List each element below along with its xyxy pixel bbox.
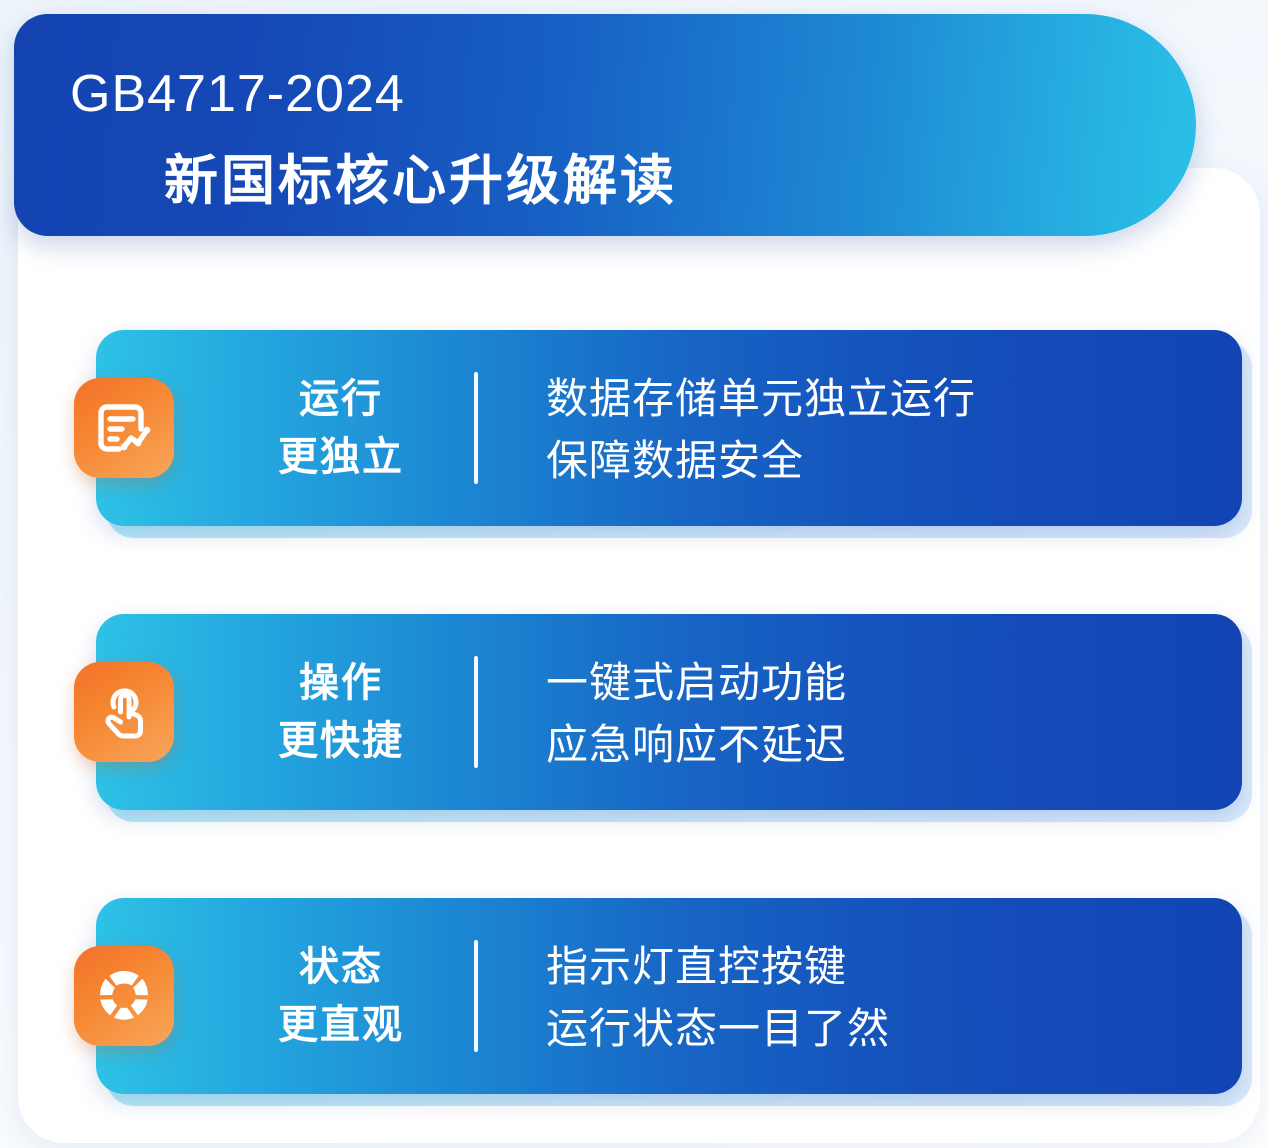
- infographic-page: GB4717-2024 新国标核心升级解读 运行 更独立: [0, 0, 1268, 1148]
- feature-label-line1: 运行: [226, 370, 456, 428]
- feature-desc-line1: 指示灯直控按键: [546, 936, 890, 998]
- feature-desc-line2: 运行状态一目了然: [546, 998, 890, 1060]
- feature-card-2[interactable]: 操作 更快捷 一键式启动功能 应急响应不延迟: [96, 614, 1242, 810]
- feature-row-3: 状态 更直观 指示灯直控按键 运行状态一目了然: [80, 898, 1252, 1106]
- feature-label-line1: 操作: [226, 654, 456, 712]
- feature-label-line2: 更快捷: [226, 712, 456, 770]
- feature-label-3: 状态 更直观: [226, 938, 456, 1054]
- document-chart-icon: [74, 378, 174, 478]
- tap-hand-icon: [74, 662, 174, 762]
- vertical-divider: [474, 656, 478, 768]
- feature-desc-line2: 保障数据安全: [546, 430, 976, 492]
- feature-card-3[interactable]: 状态 更直观 指示灯直控按键 运行状态一目了然: [96, 898, 1242, 1094]
- standard-code-title: GB4717-2024: [70, 64, 405, 124]
- header-subtitle: 新国标核心升级解读: [164, 136, 677, 215]
- feature-row-2: 操作 更快捷 一键式启动功能 应急响应不延迟: [80, 614, 1252, 822]
- feature-desc-line2: 应急响应不延迟: [546, 714, 847, 776]
- feature-label-line1: 状态: [226, 938, 456, 996]
- feature-description-1: 数据存储单元独立运行 保障数据安全: [546, 368, 976, 492]
- lifebuoy-icon: [74, 946, 174, 1046]
- feature-desc-line1: 数据存储单元独立运行: [546, 368, 976, 430]
- feature-label-2: 操作 更快捷: [226, 654, 456, 770]
- feature-card-1[interactable]: 运行 更独立 数据存储单元独立运行 保障数据安全: [96, 330, 1242, 526]
- vertical-divider: [474, 372, 478, 484]
- feature-label-1: 运行 更独立: [226, 370, 456, 486]
- header-banner: GB4717-2024 新国标核心升级解读: [14, 14, 1196, 236]
- feature-label-line2: 更独立: [226, 428, 456, 486]
- feature-row-1: 运行 更独立 数据存储单元独立运行 保障数据安全: [80, 330, 1252, 538]
- feature-description-2: 一键式启动功能 应急响应不延迟: [546, 652, 847, 776]
- feature-label-line2: 更直观: [226, 996, 456, 1054]
- vertical-divider: [474, 940, 478, 1052]
- feature-description-3: 指示灯直控按键 运行状态一目了然: [546, 936, 890, 1060]
- feature-desc-line1: 一键式启动功能: [546, 652, 847, 714]
